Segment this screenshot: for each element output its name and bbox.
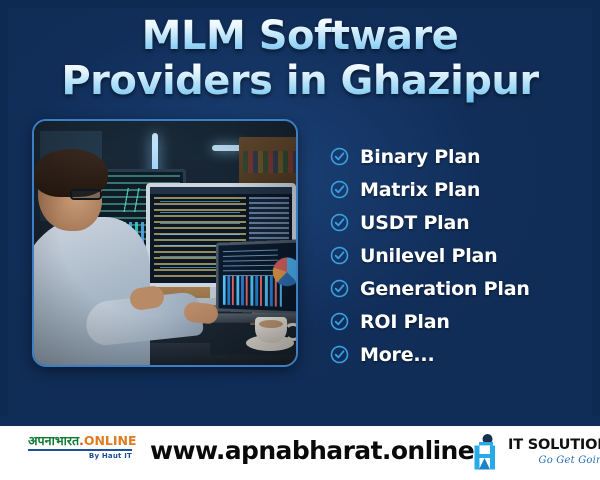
it-solutions-name: IT SOLUTIONS — [508, 438, 600, 453]
it-solutions-text: IT SOLUTIONS Go Get Going... — [508, 438, 600, 466]
photo-vignette — [34, 121, 296, 365]
feature-label: More... — [360, 344, 434, 366]
feature-label: Generation Plan — [360, 278, 530, 300]
title-line-2: Providers in Ghazipur — [0, 58, 600, 104]
check-circle-icon — [330, 312, 349, 331]
it-solutions-logo[interactable]: IT SOLUTIONS Go Get Going... — [466, 432, 600, 472]
feature-label: Unilevel Plan — [360, 245, 497, 267]
feature-list: Binary Plan Matrix Plan USDT Plan — [330, 140, 580, 371]
list-item: Unilevel Plan — [330, 239, 580, 272]
apnabharat-logo-hindi: अपनाभारत — [28, 433, 79, 448]
check-circle-icon — [330, 279, 349, 298]
list-item: USDT Plan — [330, 206, 580, 239]
it-solutions-tagline: Go Get Going... — [508, 455, 600, 466]
website-url[interactable]: www.apnabharat.online — [150, 436, 460, 465]
check-circle-icon — [330, 180, 349, 199]
apnabharat-logo-wordmark: अपनाभारत.ONLINE — [28, 434, 132, 448]
poster: MLM Software Providers in Ghazipur — [0, 0, 600, 480]
list-item: Generation Plan — [330, 272, 580, 305]
feature-label: Binary Plan — [360, 146, 480, 168]
apnabharat-logo-rule — [28, 449, 132, 451]
it-solutions-mark-icon — [466, 432, 504, 472]
list-item: Binary Plan — [330, 140, 580, 173]
check-circle-icon — [330, 147, 349, 166]
photo-scene — [34, 121, 296, 365]
apnabharat-logo-online: ONLINE — [84, 433, 137, 448]
feature-label: Matrix Plan — [360, 179, 480, 201]
check-circle-icon — [330, 213, 349, 232]
feature-label: ROI Plan — [360, 311, 450, 333]
poster-title: MLM Software Providers in Ghazipur — [0, 14, 600, 104]
list-item: ROI Plan — [330, 305, 580, 338]
check-circle-icon — [330, 246, 349, 265]
apnabharat-logo[interactable]: अपनाभारत.ONLINE By Haut IT — [28, 434, 132, 460]
banner-bottom-strip — [0, 416, 600, 426]
apnabharat-logo-subtitle: By Haut IT — [28, 452, 132, 460]
title-line-1: MLM Software — [0, 14, 600, 58]
hero-photo — [32, 119, 298, 367]
feature-label: USDT Plan — [360, 212, 469, 234]
check-circle-icon — [330, 345, 349, 364]
list-item: More... — [330, 338, 580, 371]
list-item: Matrix Plan — [330, 173, 580, 206]
